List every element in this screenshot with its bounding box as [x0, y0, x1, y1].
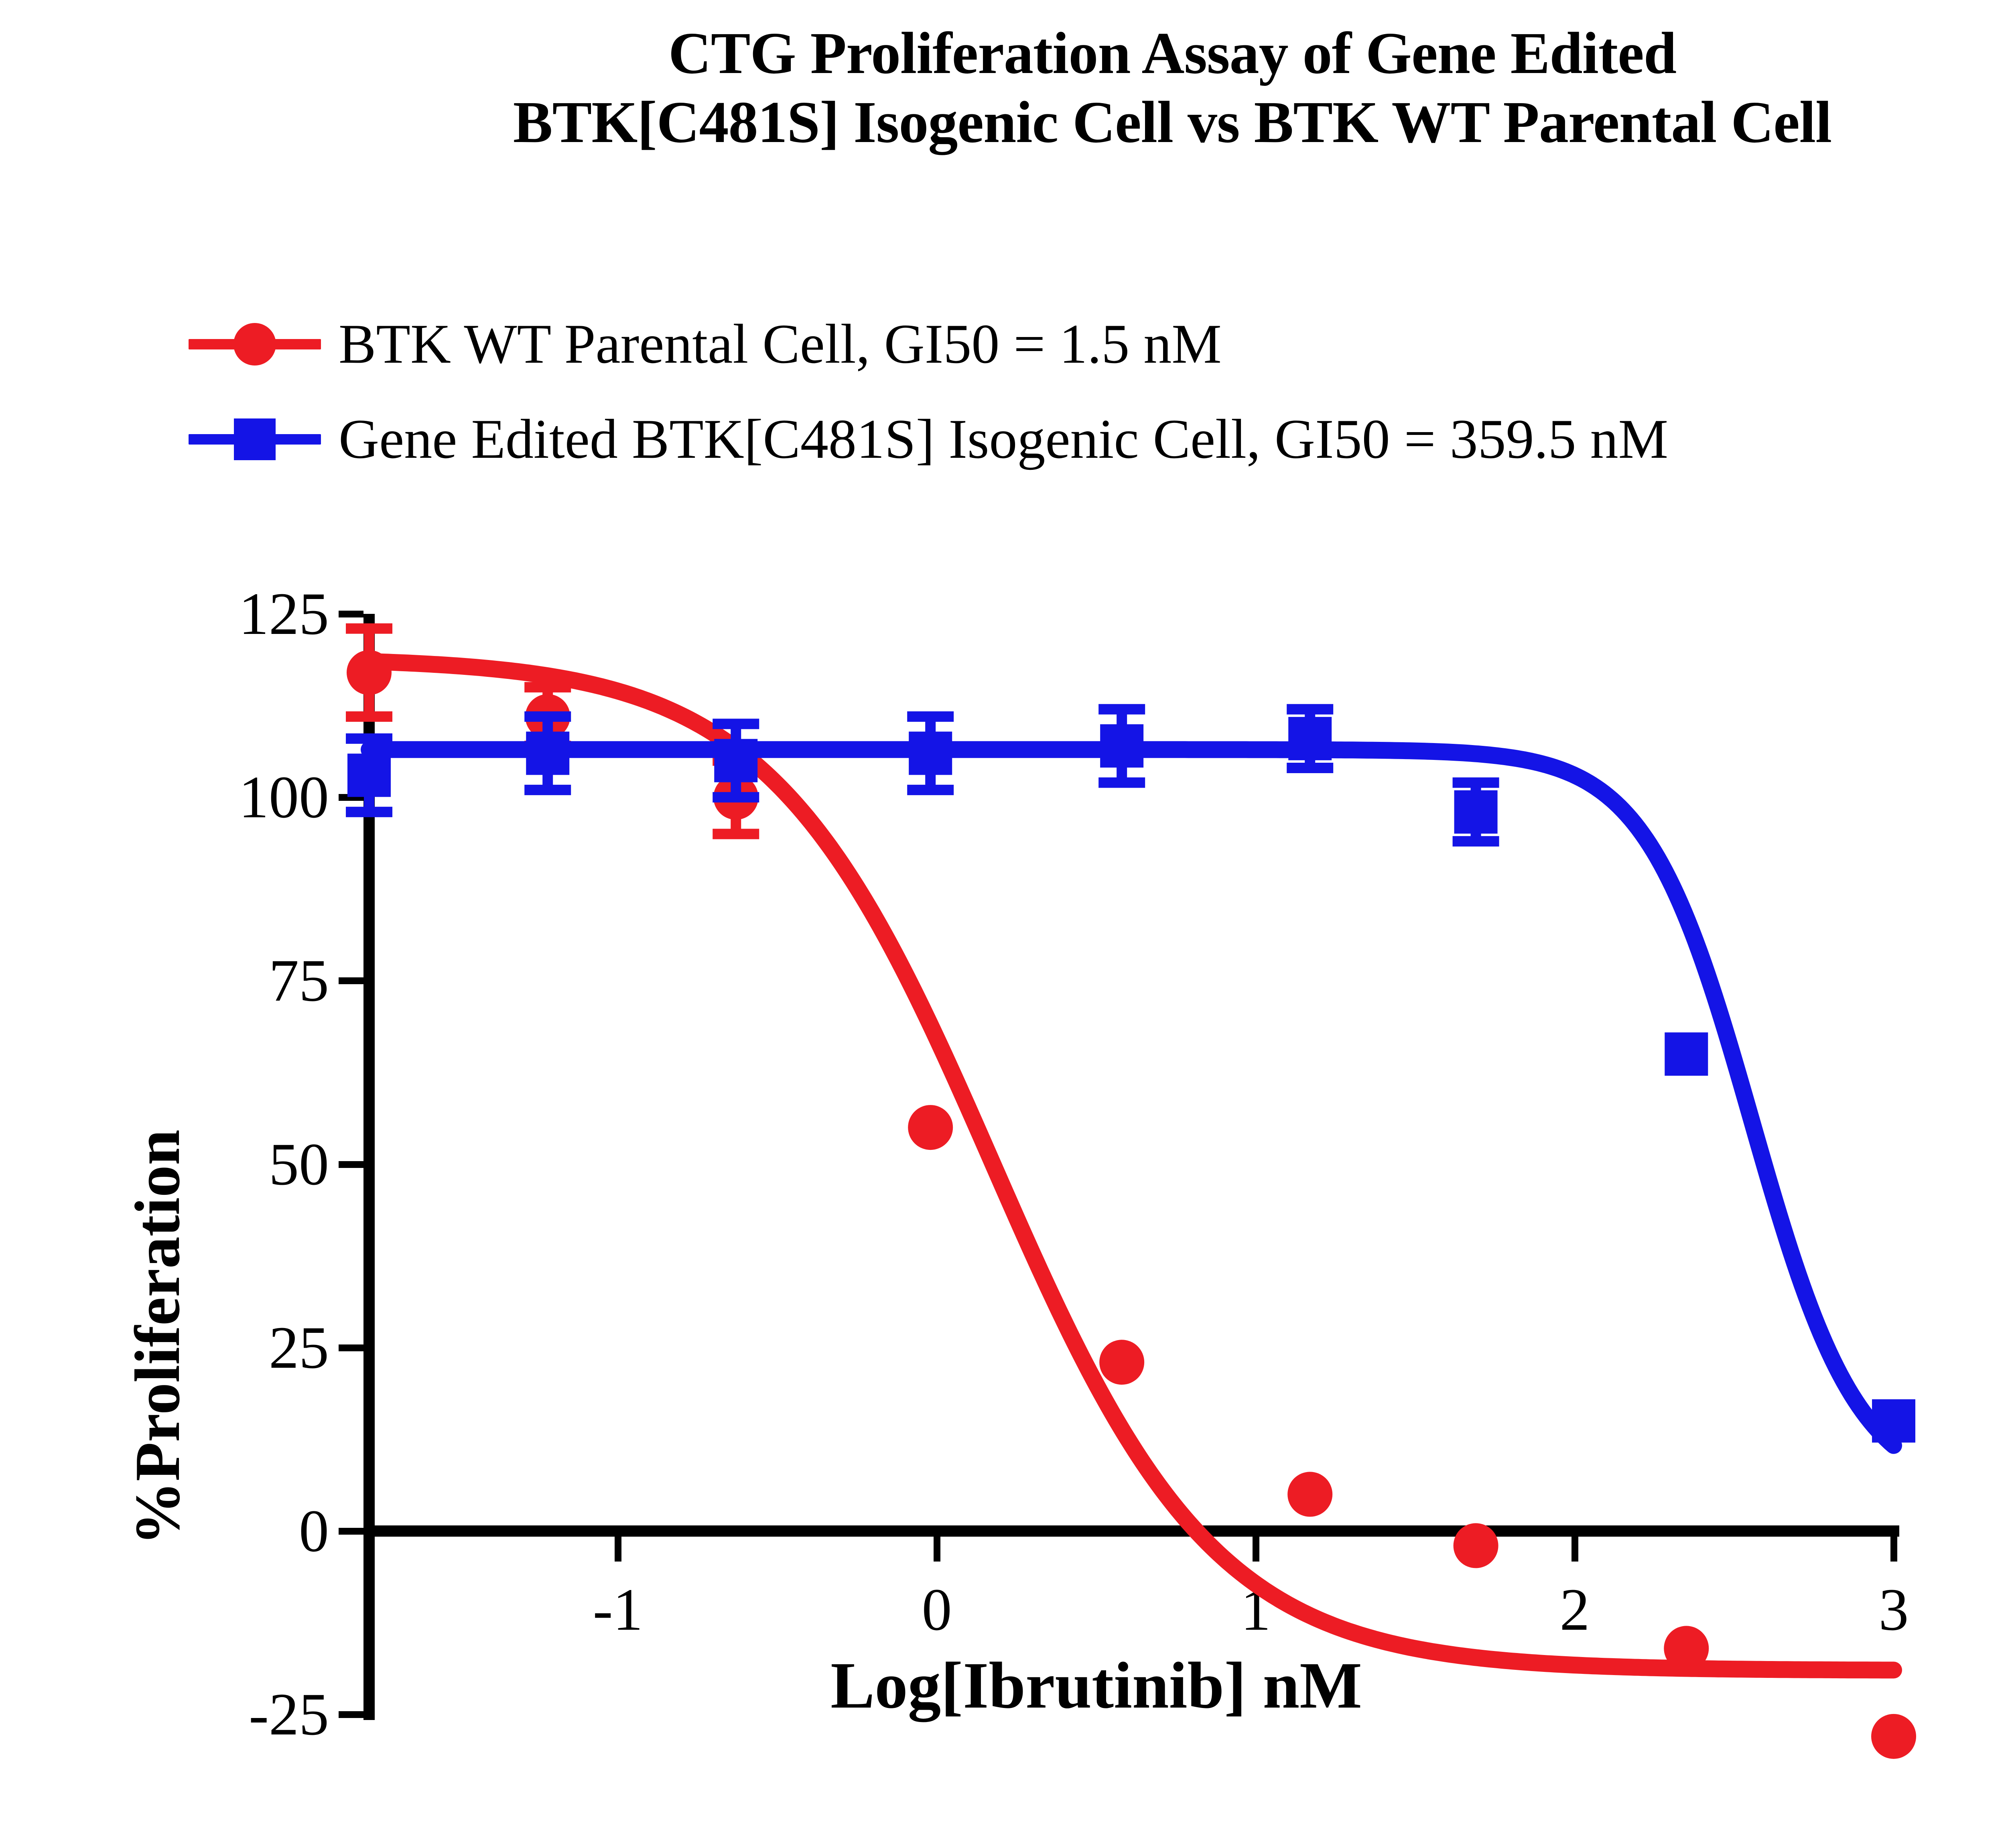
y-tick: [339, 1711, 363, 1718]
data-point: [714, 739, 757, 782]
y-tick-label: 50: [269, 1130, 329, 1199]
x-tick: [1572, 1537, 1578, 1562]
y-tick: [339, 611, 363, 617]
y-tick-label: 75: [269, 946, 329, 1015]
data-point: [1871, 1714, 1916, 1759]
data-point: [713, 775, 758, 820]
y-tick-label: -25: [249, 1680, 329, 1749]
data-point: [909, 731, 952, 775]
x-axis-line: [363, 1525, 1899, 1537]
x-tick: [1253, 1537, 1259, 1562]
data-point: [1872, 1399, 1915, 1443]
data-point: [1454, 790, 1498, 834]
y-tick-label: 0: [299, 1497, 329, 1566]
fit-curve: [369, 749, 1894, 1446]
y-tick: [339, 794, 363, 801]
y-tick-label: 25: [269, 1313, 329, 1382]
y-tick-label: 125: [239, 579, 329, 648]
plot-area: 1251007550250-25 -10123 %Proliferation L…: [0, 0, 2006, 1848]
data-point: [1100, 724, 1143, 768]
y-axis-label: %Proliferation: [120, 1130, 195, 1546]
y-tick: [339, 977, 363, 984]
x-tick-label: 3: [1879, 1575, 1909, 1644]
x-tick: [934, 1537, 940, 1562]
series-wt: [346, 629, 1916, 1759]
y-tick: [339, 1528, 363, 1535]
data-point: [525, 694, 570, 739]
x-tick-label: -1: [593, 1575, 643, 1644]
x-tick-label: 1: [1241, 1575, 1271, 1644]
data-point: [526, 731, 569, 775]
data-point: [1665, 1032, 1708, 1076]
chart-figure: CTG Proliferation Assay of Gene Edited B…: [0, 0, 2006, 1848]
x-tick: [1890, 1537, 1897, 1562]
data-point: [1288, 717, 1332, 760]
y-tick-label: 100: [239, 763, 329, 832]
x-tick-label: 2: [1560, 1575, 1590, 1644]
y-tick: [339, 1161, 363, 1168]
fit-curve: [369, 662, 1894, 1670]
y-tick: [339, 1344, 363, 1351]
x-tick-label: 0: [922, 1575, 952, 1644]
x-tick: [615, 1537, 621, 1562]
x-axis-label: Log[Ibrutinib] nM: [830, 1647, 1362, 1724]
y-axis-line: [363, 614, 375, 1720]
data-point: [1664, 1626, 1709, 1671]
data-point: [1287, 1472, 1332, 1517]
data-series-layer: [0, 0, 2006, 1848]
series-isogenic: [346, 709, 1915, 1446]
data-point: [908, 1105, 953, 1150]
data-point: [1099, 1340, 1144, 1385]
